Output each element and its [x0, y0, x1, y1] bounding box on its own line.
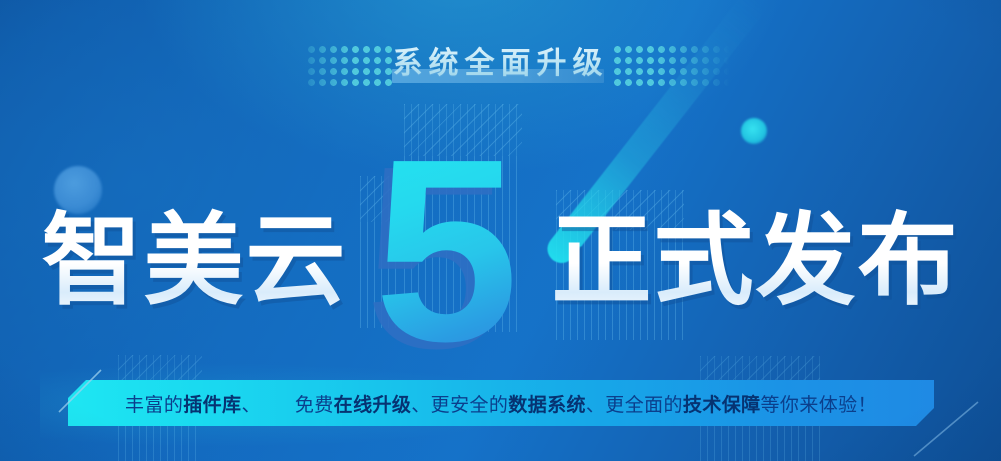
- promo-banner: 系统全面升级 智美云 5 5 正式发布 丰富的插件库、免费在线升级、更安全的数据…: [0, 0, 1001, 461]
- background-vignette: [0, 0, 1001, 461]
